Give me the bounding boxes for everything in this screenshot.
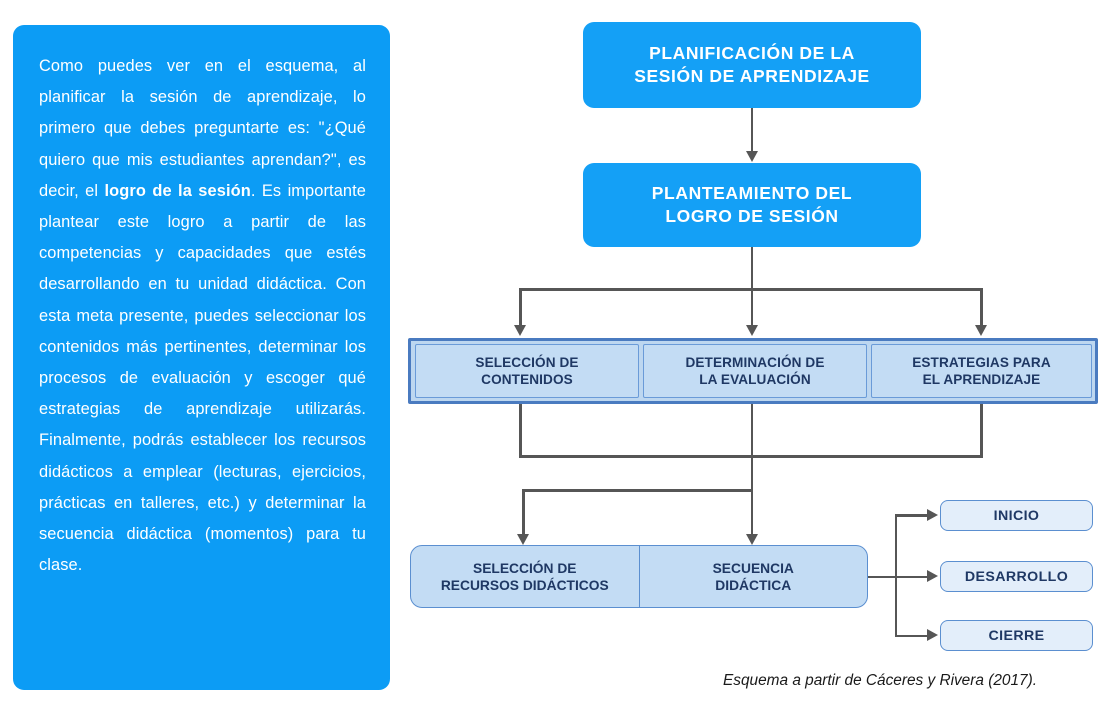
node-planificacion-line2: SESIÓN DE APRENDIZAJE	[634, 65, 870, 88]
node-seleccion-contenidos-line1: SELECCIÓN DE	[475, 354, 578, 371]
node-seleccion-recursos-line2: RECURSOS DIDÁCTICOS	[441, 577, 609, 594]
node-planteamiento-line2: LOGRO DE SESIÓN	[652, 205, 852, 228]
node-seleccion-contenidos[interactable]: SELECCIÓN DE CONTENIDOS	[415, 344, 639, 398]
node-seleccion-recursos-line1: SELECCIÓN DE	[441, 560, 609, 577]
arrowhead-bottom-center	[746, 534, 758, 545]
connector-bottom-drop-left	[522, 489, 525, 535]
arrowhead-fork-right	[975, 325, 987, 336]
arrowhead-moment-desarrollo	[927, 570, 938, 582]
node-moment-desarrollo-label: DESARROLLO	[965, 569, 1068, 585]
node-moment-inicio-label: INICIO	[994, 508, 1040, 524]
node-moment-inicio[interactable]: INICIO	[940, 500, 1093, 531]
node-determinacion-evaluacion-line1: DETERMINACIÓN DE	[685, 354, 824, 371]
node-seleccion-contenidos-line2: CONTENIDOS	[475, 371, 578, 388]
connector-merge-drop-left	[519, 404, 522, 457]
node-seleccion-recursos[interactable]: SELECCIÓN DE RECURSOS DIDÁCTICOS	[411, 546, 639, 607]
connector-moments-stem	[868, 576, 897, 579]
connector-moment-cierre	[895, 635, 929, 638]
info-panel-text: Como puedes ver en el esquema, al planif…	[39, 51, 366, 581]
node-secuencia-didactica-line2: DIDÁCTICA	[713, 577, 794, 594]
connector-moment-inicio	[895, 514, 929, 517]
arrowhead-fork-center	[746, 325, 758, 336]
node-secuencia-didactica-line1: SECUENCIA	[713, 560, 794, 577]
node-planteamiento-line1: PLANTEAMIENTO DEL	[652, 182, 852, 205]
connector-bottom-fork-bar	[522, 489, 753, 492]
node-determinacion-evaluacion-line2: LA EVALUACIÓN	[685, 371, 824, 388]
arrowhead-fork-left	[514, 325, 526, 336]
info-panel: Como puedes ver en el esquema, al planif…	[13, 25, 390, 690]
connector-fork-drop-center	[751, 288, 754, 326]
connector-fork-drop-right	[980, 288, 983, 326]
node-estrategias-aprendizaje[interactable]: ESTRATEGIAS PARA EL APRENDIZAJE	[871, 344, 1092, 398]
connector-moment-desarrollo	[895, 576, 929, 579]
node-secuencia-didactica[interactable]: SECUENCIA DIDÁCTICA	[639, 546, 868, 607]
connector-merge-bar	[519, 455, 983, 458]
info-text-part2: . Es importante plantear este logro a pa…	[39, 182, 366, 574]
info-text-bold: logro de la sesión	[105, 182, 251, 200]
node-determinacion-evaluacion[interactable]: DETERMINACIÓN DE LA EVALUACIÓN	[643, 344, 867, 398]
diagram-canvas: Como puedes ver en el esquema, al planif…	[0, 0, 1120, 712]
connector-node1-node2	[751, 108, 754, 152]
node-bottom-group[interactable]: SELECCIÓN DE RECURSOS DIDÁCTICOS SECUENC…	[410, 545, 868, 608]
arrowhead-node1-node2	[746, 151, 758, 162]
node-moment-cierre[interactable]: CIERRE	[940, 620, 1093, 651]
node-planificacion-sesion[interactable]: PLANIFICACIÓN DE LA SESIÓN DE APRENDIZAJ…	[583, 22, 921, 108]
arrowhead-bottom-left	[517, 534, 529, 545]
node-moment-cierre-label: CIERRE	[988, 628, 1044, 644]
node-moment-desarrollo[interactable]: DESARROLLO	[940, 561, 1093, 592]
connector-merge-drop-center	[751, 404, 754, 490]
connector-node2-fork-stem	[751, 247, 754, 290]
connector-fork-drop-left	[519, 288, 522, 326]
node-planificacion-line1: PLANIFICACIÓN DE LA	[634, 42, 870, 65]
diagram-caption: Esquema a partir de Cáceres y Rivera (20…	[660, 672, 1100, 690]
connector-bottom-drop-center	[751, 489, 754, 535]
node-estrategias-aprendizaje-line2: EL APRENDIZAJE	[912, 371, 1051, 388]
info-text-part1: Como puedes ver en el esquema, al planif…	[39, 57, 366, 200]
node-estrategias-aprendizaje-line1: ESTRATEGIAS PARA	[912, 354, 1051, 371]
arrowhead-moment-inicio	[927, 509, 938, 521]
connector-merge-drop-right	[980, 404, 983, 457]
node-planteamiento-logro[interactable]: PLANTEAMIENTO DEL LOGRO DE SESIÓN	[583, 163, 921, 247]
arrowhead-moment-cierre	[927, 629, 938, 641]
